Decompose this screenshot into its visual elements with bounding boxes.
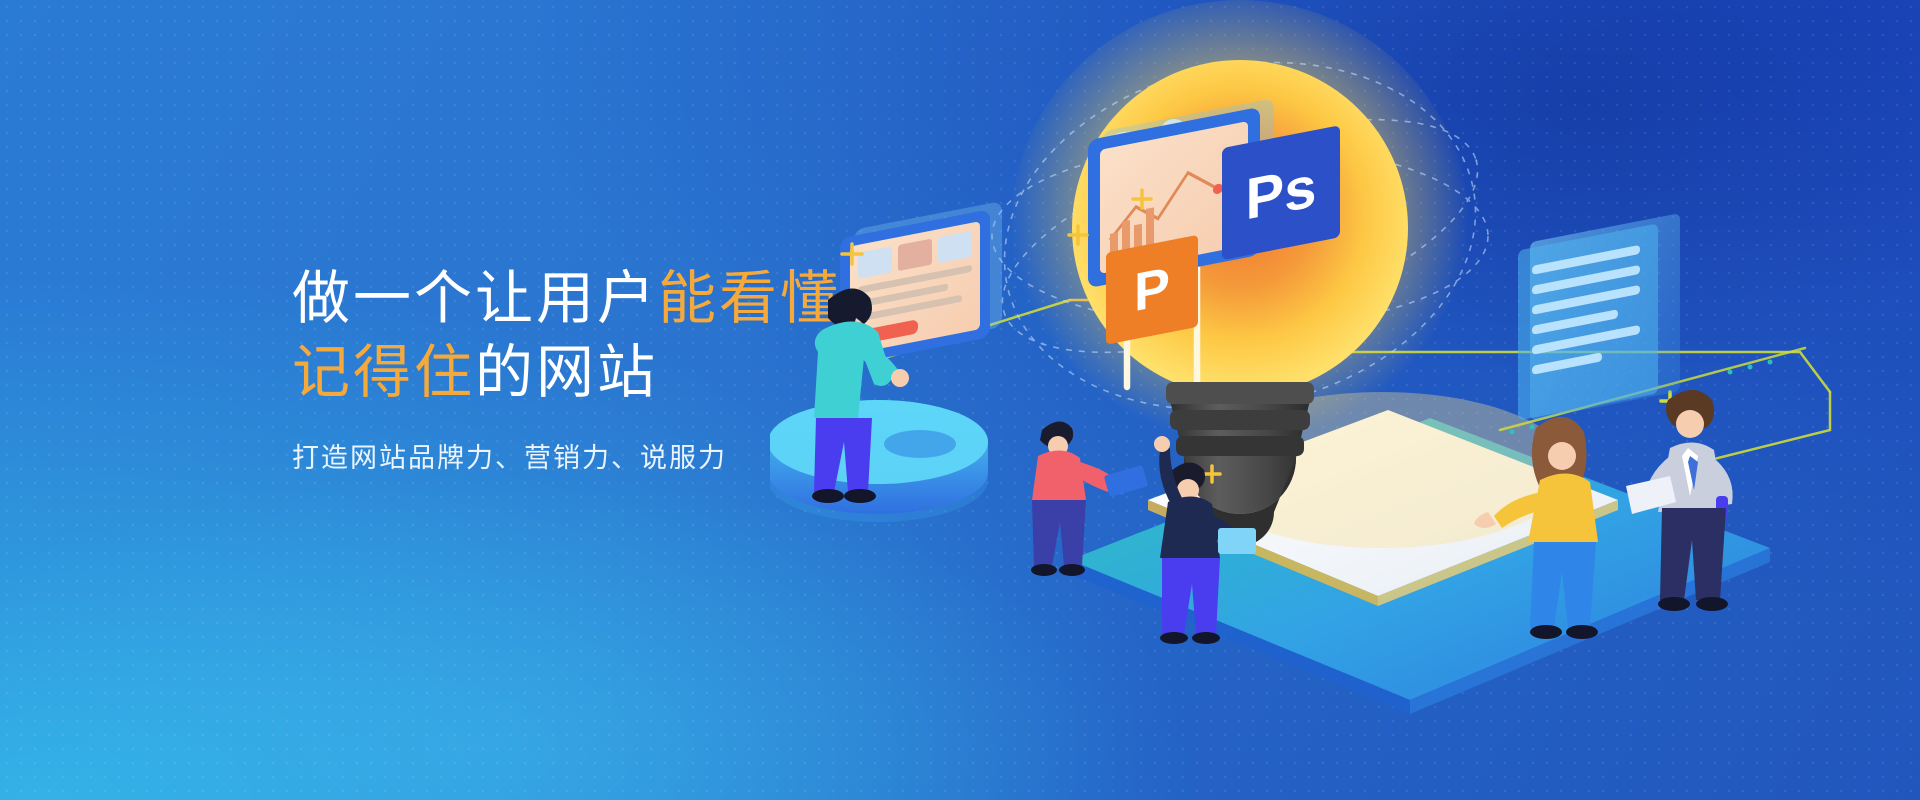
photoshop-tile[interactable]: Ps [1222, 125, 1340, 260]
photoshop-tile-label: Ps [1246, 154, 1317, 232]
headline-line2-accent: 记得住 [292, 340, 475, 405]
hero-banner: 做一个让用户能看懂 记得住的网站 打造网站品牌力、营销力、说服力 [0, 0, 1920, 800]
powerpoint-tile-label: P [1134, 256, 1170, 323]
hero-illustration: Ps P [770, 0, 1920, 800]
powerpoint-tile[interactable]: P [1106, 235, 1198, 345]
cylindrical-pedestal [770, 400, 988, 522]
headline-line1-white: 做一个让用户 [292, 266, 658, 331]
document-panel-screen [1518, 213, 1680, 422]
headline-line2-white: 的网站 [475, 340, 658, 405]
